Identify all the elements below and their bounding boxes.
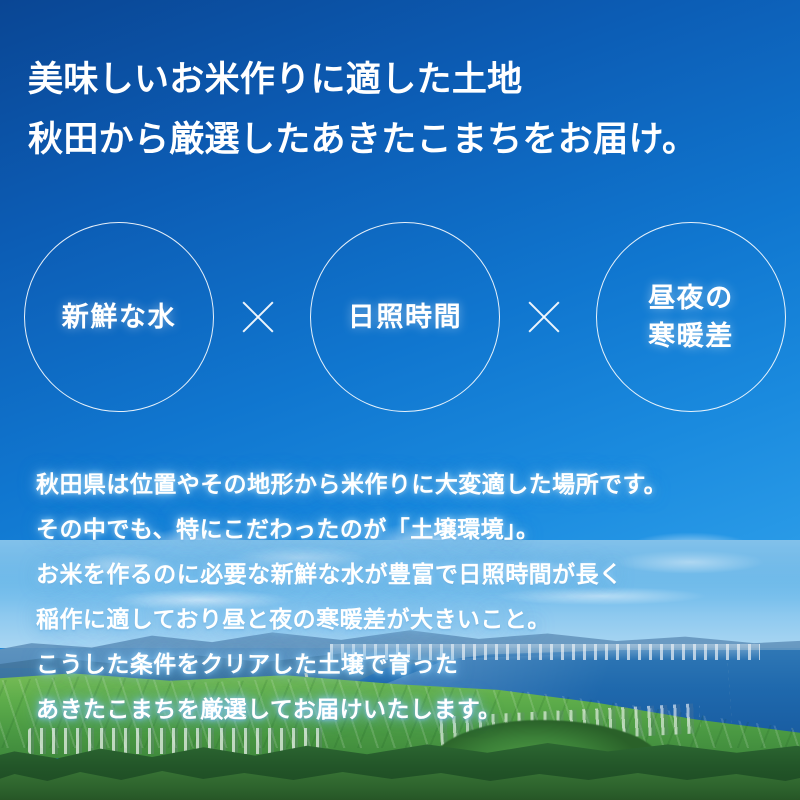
feature-circle-label: 新鮮な水 [62, 298, 176, 336]
body-copy-block: 秋田県は位置やその地形から米作りに大変適した場所です。 その中でも、特にこだわっ… [36, 462, 766, 732]
feature-circle-sunlight-hours: 日照時間 [310, 222, 500, 412]
feature-circles: 新鮮な水 日照時間 昼夜の寒暖差 [0, 222, 800, 418]
feature-circle-label: 昼夜の寒暖差 [648, 279, 734, 355]
promo-banner: 美味しいお米作りに適した土地 秋田から厳選したあきたこまちをお届け。 新鮮な水 … [0, 0, 800, 800]
body-line-6: あきたこまちを厳選してお届けいたします。 [36, 687, 766, 732]
body-line-3: お米を作るのに必要な新鮮な水が豊富で日照時間が長く [36, 552, 766, 597]
feature-circle-temperature-difference: 昼夜の寒暖差 [596, 222, 786, 412]
cross-separator-icon [237, 296, 279, 338]
body-line-5: こうした条件をクリアした土壌で育った [36, 642, 766, 687]
body-line-4: 稲作に適しており昼と夜の寒暖差が大きいこと。 [36, 597, 766, 642]
headline-line-1: 美味しいお米作りに適した土地 [28, 50, 772, 110]
cross-separator-icon [523, 296, 565, 338]
feature-circle-label: 日照時間 [348, 298, 462, 336]
body-line-2: その中でも、特にこだわったのが「土壌環境」。 [36, 507, 766, 552]
headline-line-2: 秋田から厳選したあきたこまちをお届け。 [28, 110, 772, 170]
headline-block: 美味しいお米作りに適した土地 秋田から厳選したあきたこまちをお届け。 [28, 50, 772, 170]
body-line-1: 秋田県は位置やその地形から米作りに大変適した場所です。 [36, 462, 766, 507]
feature-circle-fresh-water: 新鮮な水 [24, 222, 214, 412]
